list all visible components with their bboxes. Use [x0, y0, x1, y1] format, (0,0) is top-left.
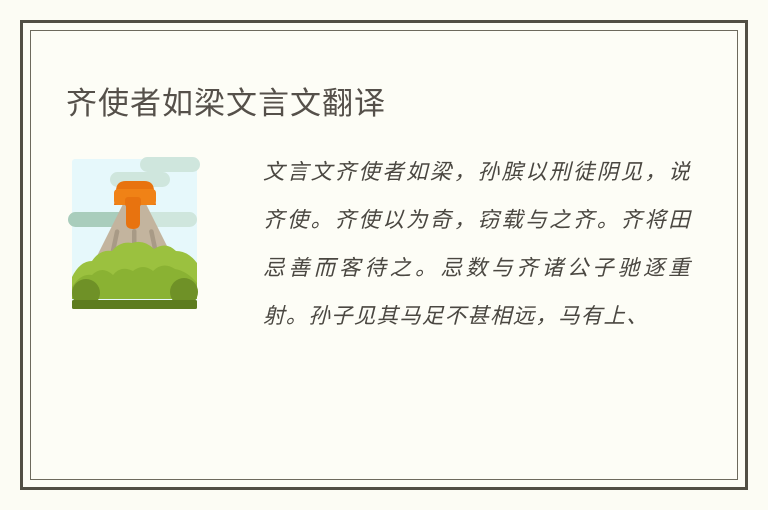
article-thumbnail[interactable]: [66, 153, 203, 315]
volcano-illustration-icon: [66, 153, 203, 315]
decorative-frame-inner: 齐使者如梁文言文翻译: [30, 30, 738, 480]
article-body-text: 文言文齐使者如梁，孙膑以刑徒阴见，说齐使。齐使以为奇，窃载与之齐。齐将田忌善而客…: [263, 149, 691, 341]
decorative-frame-outer: 齐使者如梁文言文翻译: [20, 20, 748, 490]
article-content: 齐使者如梁文言文翻译: [31, 31, 737, 479]
page-title: 齐使者如梁文言文翻译: [66, 84, 386, 124]
page-root: 齐使者如梁文言文翻译: [0, 0, 768, 510]
